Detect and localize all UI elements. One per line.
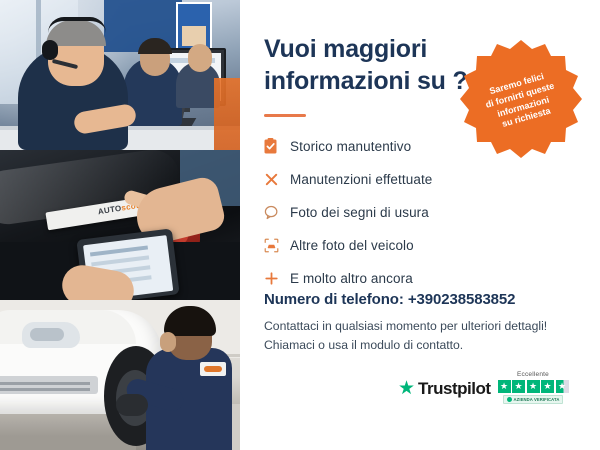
wrench-cross-icon bbox=[264, 172, 290, 187]
trustpilot-logo: ★ Trustpilot bbox=[398, 379, 491, 404]
mechanic-wheel-photo bbox=[0, 300, 240, 450]
inspection-ruler-tablet-photo: AUTOscout bbox=[0, 150, 240, 300]
call-center-agents-photo bbox=[0, 0, 240, 150]
headline-line-2: informazioni su ? bbox=[264, 66, 474, 98]
photo-column: AUTOscout bbox=[0, 0, 240, 450]
phone-label: Numero di telefono: bbox=[264, 291, 404, 308]
list-item-label: Manutenzioni effettuate bbox=[290, 172, 432, 187]
list-item-label: E molto altro ancora bbox=[290, 271, 413, 286]
list-item-label: Altre foto del veicolo bbox=[290, 238, 414, 253]
rating-label: Eccellente bbox=[517, 371, 549, 378]
third-agent-head bbox=[188, 44, 212, 72]
headlight bbox=[22, 322, 80, 348]
trustpilot-rating: Eccellente ★ ★ ★ ★ ★ AZIENDA VERIFICATA bbox=[498, 371, 569, 404]
star-4: ★ bbox=[541, 380, 554, 393]
uniform-logo-badge bbox=[200, 362, 226, 376]
feature-list: Storico manutentivo Manutenzioni effettu… bbox=[264, 132, 524, 297]
star-rating: ★ ★ ★ ★ ★ bbox=[498, 380, 569, 393]
phone-line[interactable]: Numero di telefono: +390238583852 bbox=[264, 291, 515, 308]
clipboard-check-icon bbox=[264, 138, 290, 154]
badge-text: Saremo felici di fornirti queste informa… bbox=[471, 66, 573, 137]
star-1: ★ bbox=[498, 380, 511, 393]
trustpilot-star-icon: ★ bbox=[398, 379, 415, 398]
trustpilot-wordmark: Trustpilot bbox=[418, 379, 490, 399]
trustpilot-widget[interactable]: ★ Trustpilot Eccellente ★ ★ ★ ★ ★ AZIEND… bbox=[398, 371, 569, 404]
mechanic-face bbox=[160, 332, 176, 352]
verified-label: AZIENDA VERIFICATA bbox=[514, 397, 560, 402]
contact-subtext: Contattaci in qualsiasi momento per ulte… bbox=[264, 317, 564, 355]
advert-banner: AUTOscout Vuoi maggior bbox=[0, 0, 600, 450]
subtext-line-2: Chiamaci o usa il modulo di contatto. bbox=[264, 336, 564, 355]
list-item[interactable]: E molto altro ancora bbox=[264, 264, 524, 292]
headset-earcup-icon bbox=[42, 40, 58, 60]
subtext-line-1: Contattaci in qualsiasi momento per ulte… bbox=[264, 317, 564, 336]
star-3: ★ bbox=[527, 380, 540, 393]
star-2: ★ bbox=[512, 380, 525, 393]
star-5-partial: ★ bbox=[556, 380, 569, 393]
photo-frame-car-icon bbox=[264, 238, 290, 253]
mechanic-glove bbox=[116, 394, 148, 416]
list-item[interactable]: Foto dei segni di usura bbox=[264, 198, 524, 226]
content-panel: Vuoi maggiori informazioni su ? Saremo f… bbox=[240, 0, 600, 450]
orange-shelf-edge bbox=[214, 78, 240, 150]
list-item-label: Storico manutentivo bbox=[290, 139, 411, 154]
title-divider bbox=[264, 114, 306, 117]
page-title: Vuoi maggiori informazioni su ? bbox=[264, 34, 474, 97]
list-item-label: Foto dei segni di usura bbox=[290, 205, 429, 220]
phone-number[interactable]: +390238583852 bbox=[408, 291, 516, 308]
headline-line-1: Vuoi maggiori bbox=[264, 34, 474, 66]
list-item[interactable]: Manutenzioni effettuate bbox=[264, 165, 524, 193]
verified-company-badge: AZIENDA VERIFICATA bbox=[503, 395, 564, 404]
verified-check-icon bbox=[507, 397, 512, 402]
car-lift-platform bbox=[0, 436, 136, 450]
list-item[interactable]: Altre foto del veicolo bbox=[264, 231, 524, 259]
search-bubble-icon bbox=[264, 205, 290, 220]
plus-icon bbox=[264, 271, 290, 286]
front-grille bbox=[0, 376, 98, 394]
headset-band bbox=[48, 17, 106, 33]
list-item[interactable]: Storico manutentivo bbox=[264, 132, 524, 160]
